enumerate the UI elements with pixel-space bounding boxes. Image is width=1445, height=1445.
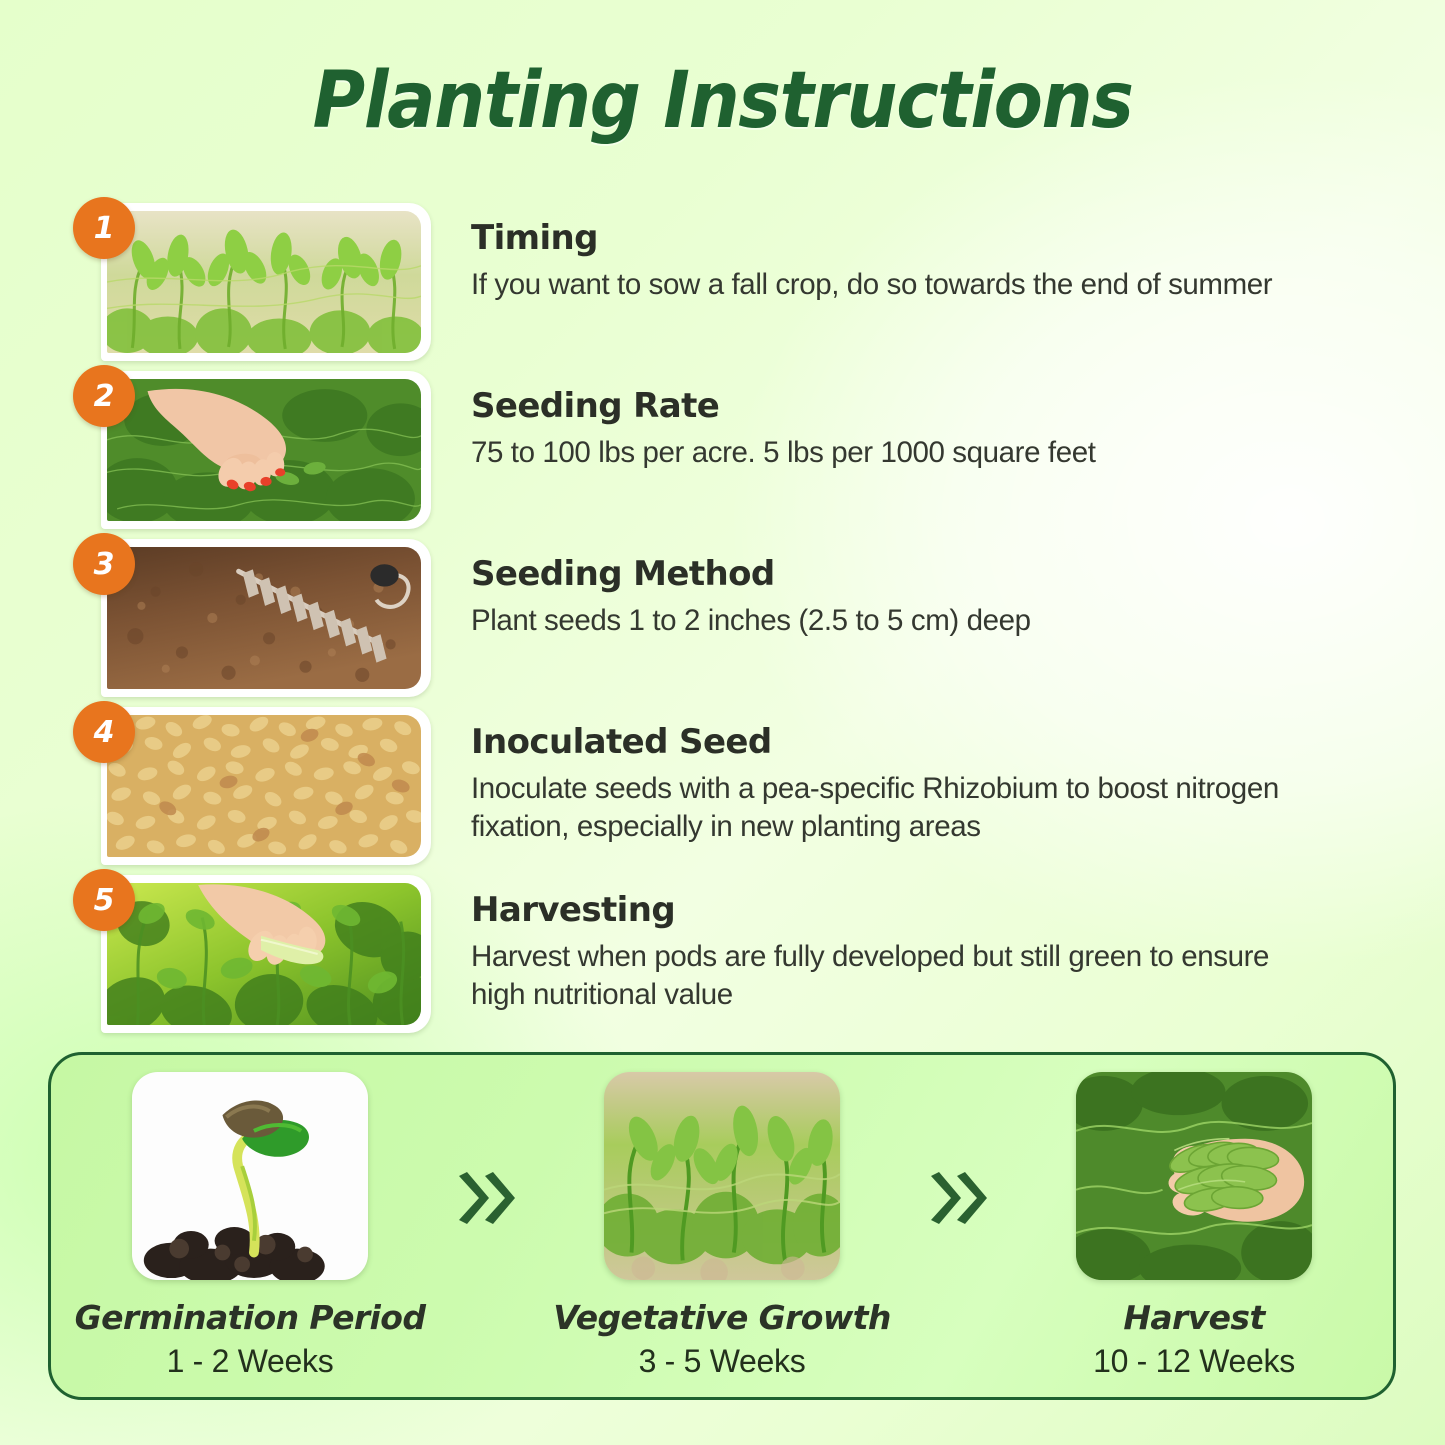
timeline-stage-duration: 1 - 2 Weeks (167, 1343, 334, 1380)
step-title: Seeding Method (471, 555, 1373, 594)
step-text: Seeding Rate 75 to 100 lbs per acre. 5 l… (431, 371, 1373, 472)
pea-seeds-pile-photo (107, 715, 421, 857)
photo-frame (101, 371, 431, 529)
step-description: Inoculate seeds with a pea-specific Rhiz… (471, 770, 1316, 847)
step-number-badge: 5 (73, 869, 135, 931)
step-description: Plant seeds 1 to 2 inches (2.5 to 5 cm) … (471, 602, 1316, 640)
photo-frame (101, 875, 431, 1033)
step-item: 5 Harvesting Harvest when pods are fully… (83, 875, 1373, 1033)
step-description: 75 to 100 lbs per acre. 5 lbs per 1000 s… (471, 434, 1316, 472)
steps-list: 1 Timing If you want to sow a fall crop,… (83, 203, 1373, 1043)
hand-sowing-peas-photo (107, 379, 421, 521)
growth-timeline-panel: Germination Period 1 - 2 Weeks (48, 1052, 1396, 1400)
timeline-stage-duration: 10 - 12 Weeks (1093, 1343, 1295, 1380)
step-number-badge: 4 (73, 701, 135, 763)
photo-frame (101, 707, 431, 865)
step-number-badge: 3 (73, 533, 135, 595)
double-chevron-right-icon (910, 1170, 1006, 1226)
timeline-stage-label: Vegetative Growth (553, 1298, 891, 1337)
step-media: 4 (101, 707, 431, 865)
page-title: Planting Instructions (313, 56, 1133, 146)
step-title: Timing (471, 219, 1373, 258)
timeline-stage-label: Harvest (1123, 1298, 1264, 1337)
step-item: 3 Seeding Method Plant seeds 1 to 2 inch… (83, 539, 1373, 697)
step-media: 5 (101, 875, 431, 1033)
timeline-stage-duration: 3 - 5 Weeks (639, 1343, 806, 1380)
timeline-stage: Germination Period 1 - 2 Weeks (85, 1072, 415, 1380)
step-item: 4 Inoculated Seed Inoculate seeds with a… (83, 707, 1373, 865)
pea-seedlings-photo (107, 211, 421, 353)
infographic-page: Planting Instructions (0, 0, 1445, 1445)
step-title: Seeding Rate (471, 387, 1373, 426)
step-number-badge: 1 (73, 197, 135, 259)
hand-picking-pod-photo (107, 883, 421, 1025)
step-text: Seeding Method Plant seeds 1 to 2 inches… (431, 539, 1373, 640)
double-chevron-right-icon (438, 1170, 534, 1226)
step-number-badge: 2 (73, 365, 135, 427)
step-item: 1 Timing If you want to sow a fall crop,… (83, 203, 1373, 361)
photo-frame (101, 203, 431, 361)
step-description: Harvest when pods are fully developed bu… (471, 938, 1316, 1015)
step-title: Harvesting (471, 891, 1373, 930)
young-pea-plants-photo (604, 1072, 840, 1280)
step-text: Inoculated Seed Inoculate seeds with a p… (431, 707, 1373, 847)
timeline-stage: Harvest 10 - 12 Weeks (1029, 1072, 1359, 1380)
timeline-stage-label: Germination Period (75, 1298, 426, 1337)
page-title-container: Planting Instructions (0, 56, 1445, 146)
step-text: Timing If you want to sow a fall crop, d… (431, 203, 1373, 304)
step-text: Harvesting Harvest when pods are fully d… (431, 875, 1373, 1015)
step-description: If you want to sow a fall crop, do so to… (471, 266, 1316, 304)
photo-frame (101, 539, 431, 697)
step-title: Inoculated Seed (471, 723, 1373, 762)
rake-in-soil-photo (107, 547, 421, 689)
sprouting-seed-photo (132, 1072, 368, 1280)
timeline-stage: Vegetative Growth 3 - 5 Weeks (557, 1072, 887, 1380)
step-item: 2 Seeding Rate 75 to 100 lbs per acre. 5… (83, 371, 1373, 529)
step-media: 3 (101, 539, 431, 697)
step-media: 1 (101, 203, 431, 361)
step-media: 2 (101, 371, 431, 529)
hand-holding-pods-photo (1076, 1072, 1312, 1280)
